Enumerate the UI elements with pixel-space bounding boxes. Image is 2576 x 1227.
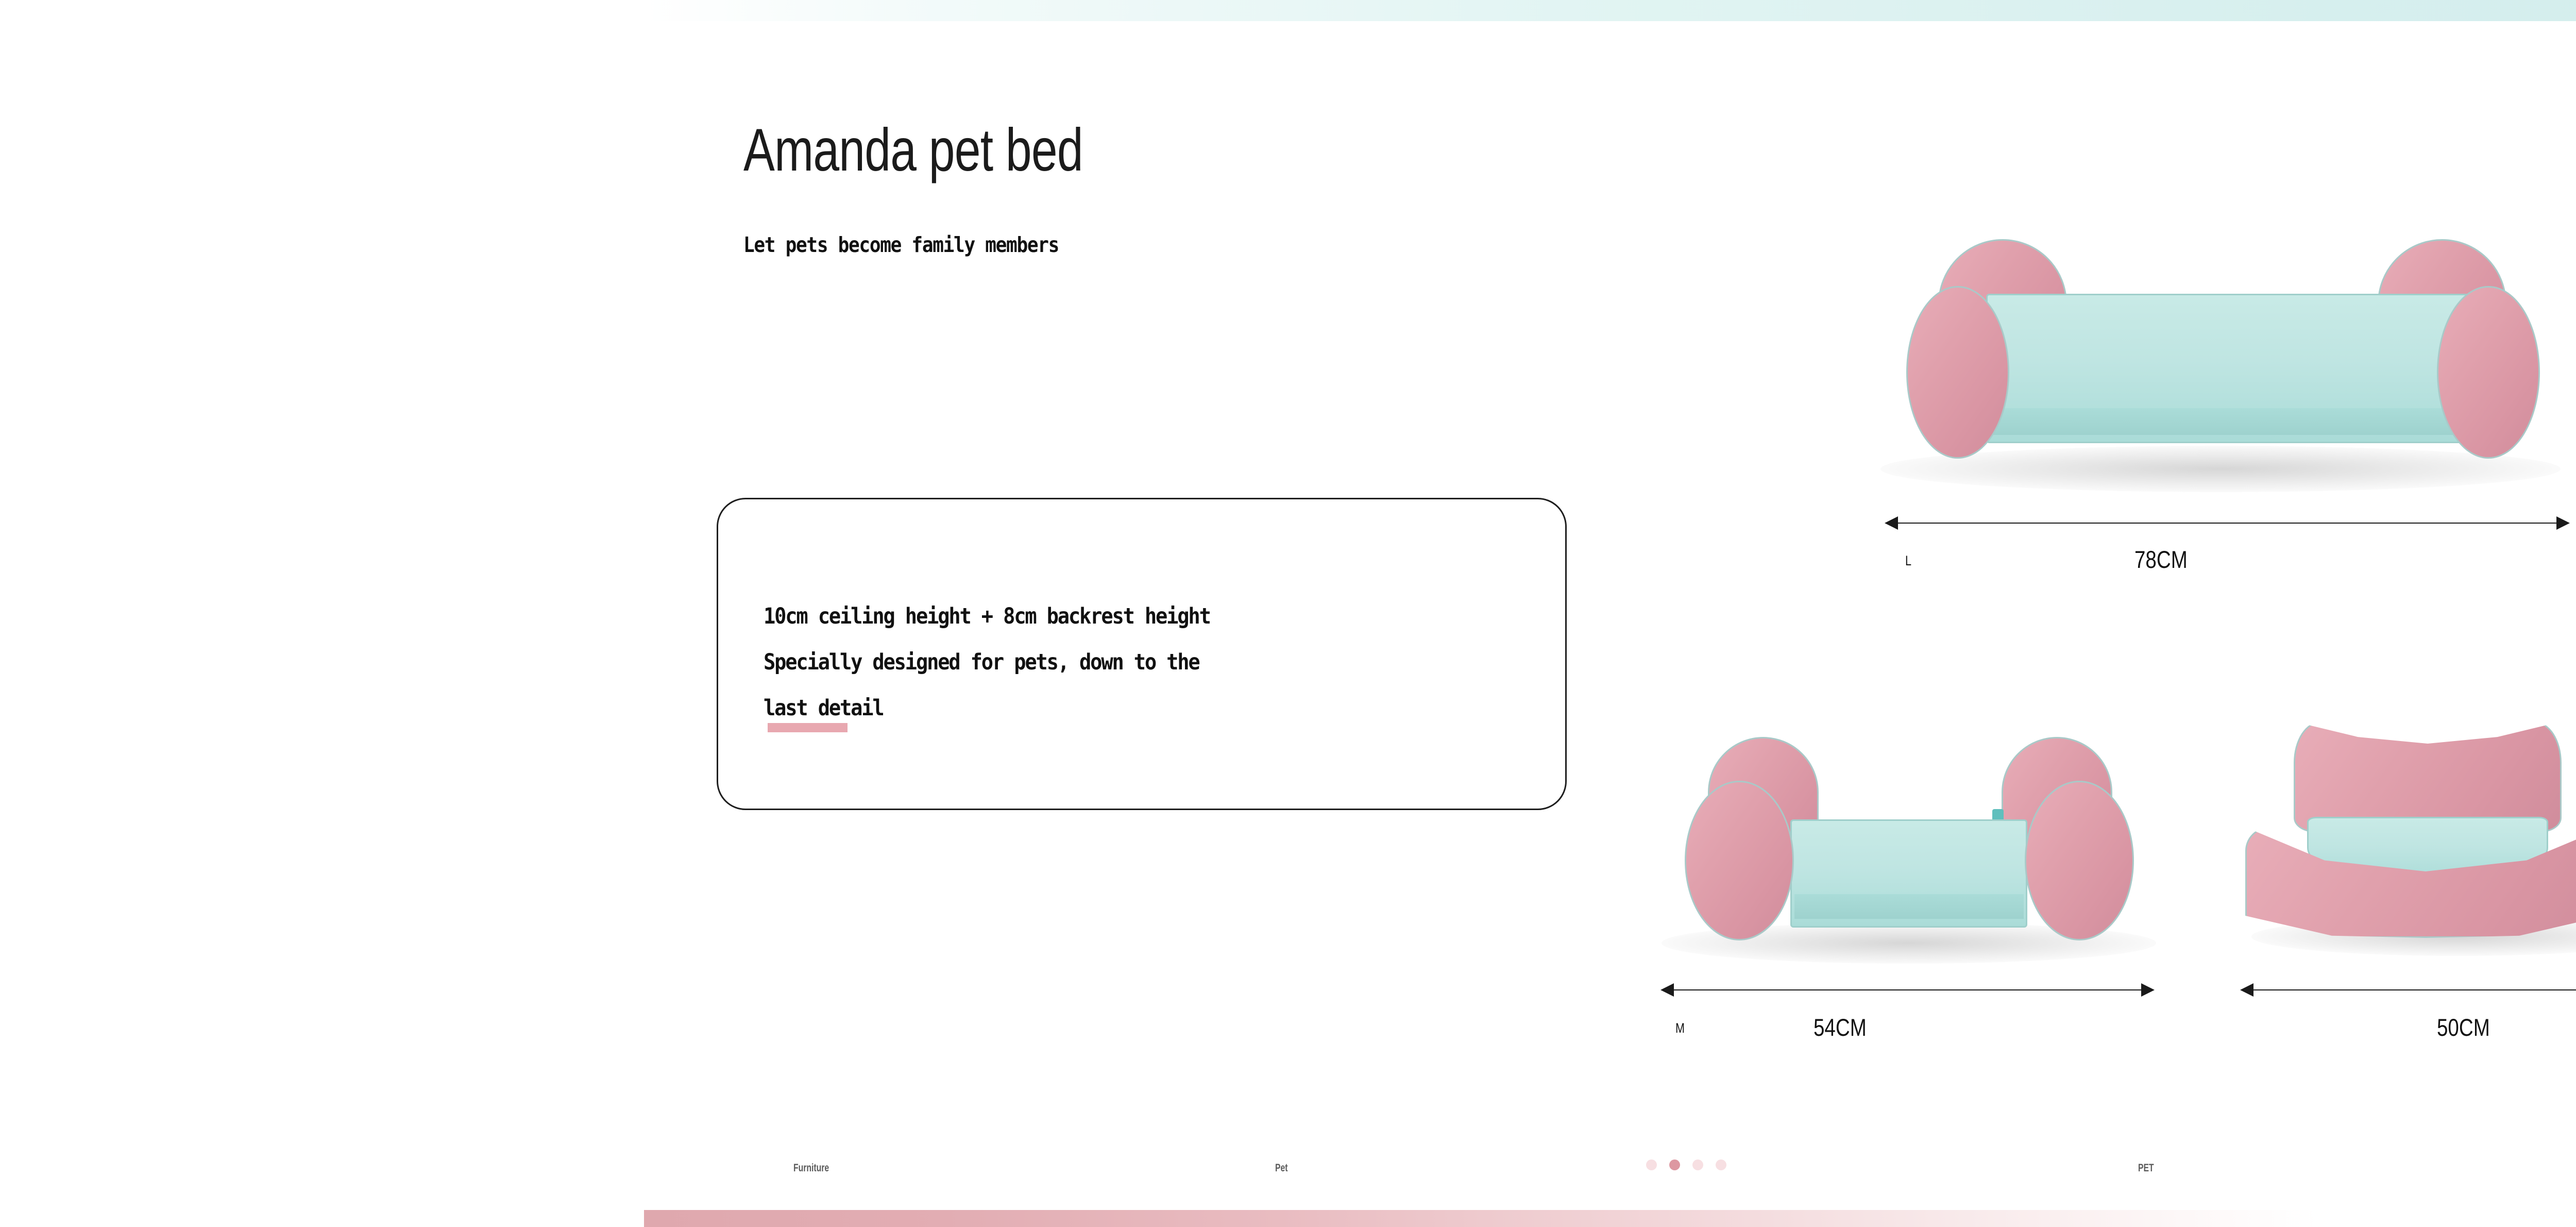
dim-arrowhead-right-78cm xyxy=(2556,516,2570,530)
dim-arrowhead-left-50cm xyxy=(2240,983,2253,997)
dim-arrowhead-left-54cm xyxy=(1660,983,1674,997)
bed-large-shadow xyxy=(1880,446,2561,492)
feature-callout-text: 10cm ceiling height + 8cm backrest heigh… xyxy=(764,594,1440,731)
footer-label-pet-caps[interactable]: PET xyxy=(2138,1162,2154,1174)
product-image-bed-large xyxy=(1875,227,2576,500)
pagination-dot-2[interactable] xyxy=(1669,1159,1680,1170)
page-subtitle: Let pets become family members xyxy=(743,234,1059,256)
dim-label-50cm: 50CM xyxy=(2437,1013,2490,1041)
dim-label-78cm: 78CM xyxy=(2134,545,2188,574)
pagination-dot-4[interactable] xyxy=(1716,1159,1726,1170)
bed-medium-mattress-lip xyxy=(1794,894,2024,919)
pagination-dot-1[interactable] xyxy=(1646,1159,1657,1170)
bed-medium-side-bolster-left xyxy=(1685,781,1794,940)
footer-label-pet[interactable]: Pet xyxy=(1275,1162,1288,1174)
size-tag-large: L xyxy=(1905,553,1911,569)
feature-underline-accent xyxy=(768,723,848,732)
bed-large-mattress-lip xyxy=(1993,408,2498,435)
dim-arrowhead-right-54cm xyxy=(2141,983,2155,997)
page-title: Amanda pet bed xyxy=(743,120,1083,180)
dim-line-50cm xyxy=(2246,989,2576,990)
pagination-dot-3[interactable] xyxy=(1692,1159,1703,1170)
bed-large-side-bolster-right xyxy=(2437,286,2540,459)
product-image-bed-medium xyxy=(1656,727,2172,974)
feature-line-1: 10cm ceiling height + 8cm backrest heigh… xyxy=(764,594,1440,640)
pagination-dots[interactable] xyxy=(1646,1159,1726,1170)
dim-arrowhead-left-78cm xyxy=(1885,516,1898,530)
product-image-bed-front xyxy=(2236,711,2576,969)
bed-front-backrest xyxy=(2294,721,2562,832)
feature-line-3: last detail xyxy=(764,685,1440,731)
bottom-accent-band xyxy=(644,1210,2318,1227)
footer-label-furniture[interactable]: Furniture xyxy=(793,1162,829,1174)
feature-line-2: Specially designed for pets, down to the xyxy=(764,640,1440,685)
dim-line-54cm xyxy=(1667,989,2146,990)
size-tag-medium: M xyxy=(1675,1020,1685,1036)
dim-line-78cm xyxy=(1891,523,2561,524)
bed-large-side-bolster-left xyxy=(1906,286,2009,459)
bed-medium-side-bolster-right xyxy=(2025,781,2134,940)
dim-label-54cm: 54CM xyxy=(1814,1013,1867,1041)
top-accent-band xyxy=(644,0,2576,21)
